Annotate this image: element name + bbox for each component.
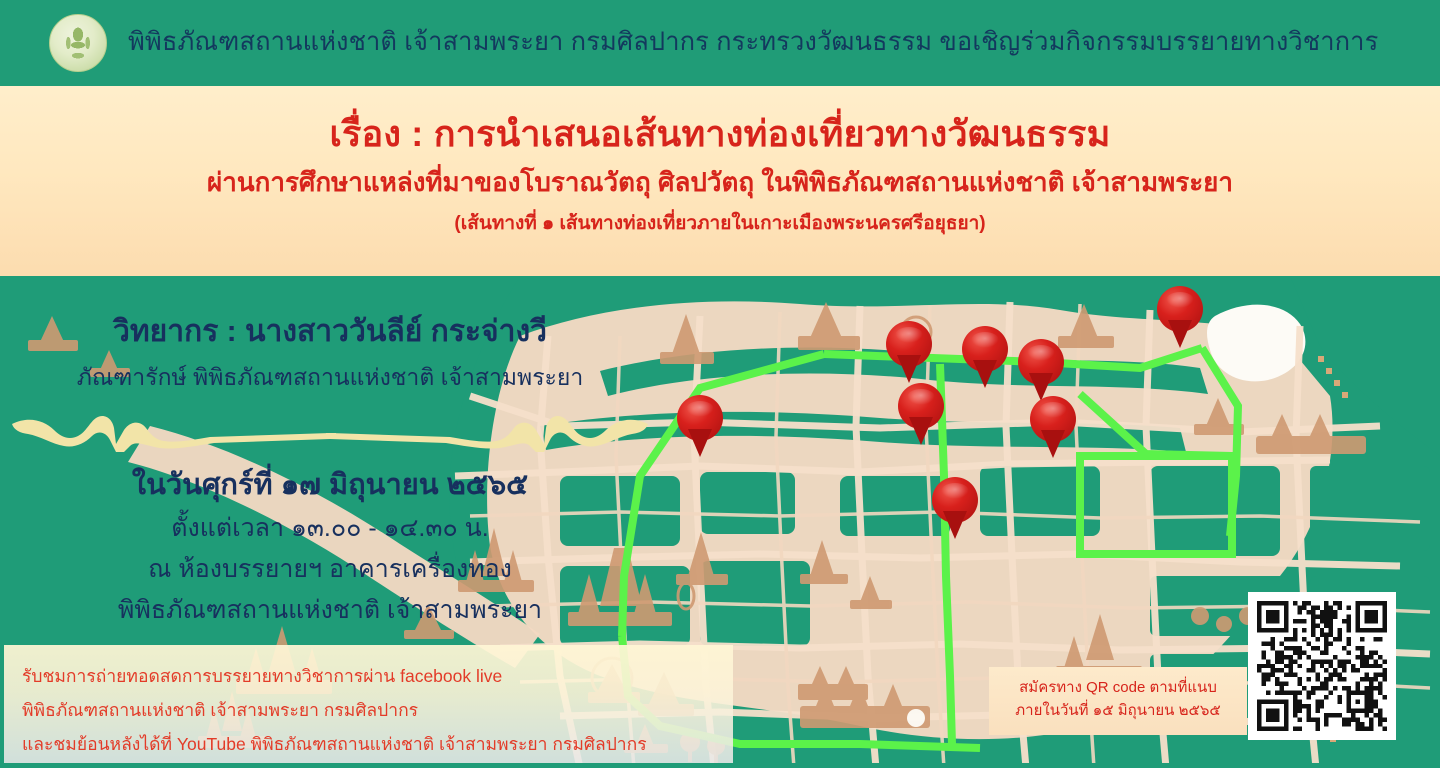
pin-tip-icon	[943, 511, 967, 539]
footer-line-1: รับชมการถ่ายทอดสดการบรรยายทางวิชาการผ่าน…	[22, 659, 733, 693]
header-title: พิพิธภัณฑสถานแห่งชาติ เจ้าสามพระยา กรมศิ…	[128, 30, 1378, 56]
pin-tip-icon	[973, 360, 997, 388]
fine-arts-department-seal-icon	[49, 14, 107, 72]
header-bar: พิพิธภัณฑสถานแห่งชาติ เจ้าสามพระยา กรมศิ…	[0, 0, 1440, 86]
footer-line-2: พิพิธภัณฑสถานแห่งชาติ เจ้าสามพระยา กรมศิ…	[22, 693, 733, 727]
pin-tip-icon	[1168, 320, 1192, 348]
pin-tip-icon	[909, 417, 933, 445]
broadcast-info-box: รับชมการถ่ายทอดสดการบรรยายทางวิชาการผ่าน…	[4, 645, 733, 763]
page-title: เรื่อง : การนำเสนอเส้นทางท่องเที่ยวทางวั…	[0, 111, 1440, 156]
qr-note-line-1: สมัครทาง QR code ตามที่แนบ	[989, 676, 1247, 699]
pin-tip-icon	[897, 355, 921, 383]
pin-tip-icon	[688, 429, 712, 457]
map-pin-1[interactable]	[677, 395, 723, 457]
map-pin-4[interactable]	[1018, 339, 1064, 401]
seal-emblem-detail	[57, 22, 99, 64]
qr-code-canvas	[1257, 601, 1387, 731]
title-band: เรื่อง : การนำเสนอเส้นทางท่องเที่ยวทางวั…	[0, 86, 1440, 276]
map-pin-6[interactable]	[898, 383, 944, 445]
page-subtitle: ผ่านการศึกษาแหล่งที่มาของโบราณวัตถุ ศิลป…	[0, 166, 1440, 199]
map-pin-5[interactable]	[1157, 286, 1203, 348]
map-pin-7[interactable]	[1030, 396, 1076, 458]
map-pin-2[interactable]	[886, 321, 932, 383]
qr-note-line-2: ภายในวันที่ ๑๕ มิถุนายน ๒๕๖๕	[989, 699, 1247, 722]
bottom-accent-strip	[0, 763, 1440, 768]
pin-tip-icon	[1041, 430, 1065, 458]
map-pin-8[interactable]	[932, 477, 978, 539]
footer-line-3: และชมย้อนหลังได้ที่ YouTube พิพิธภัณฑสถา…	[22, 727, 733, 761]
qr-registration-note: สมัครทาง QR code ตามที่แนบ ภายในวันที่ ๑…	[989, 667, 1247, 735]
route-note: (เส้นทางที่ ๑ เส้นทางท่องเที่ยวภายในเกาะ…	[0, 213, 1440, 236]
registration-qr-code[interactable]	[1248, 592, 1396, 740]
map-pin-3[interactable]	[962, 326, 1008, 388]
